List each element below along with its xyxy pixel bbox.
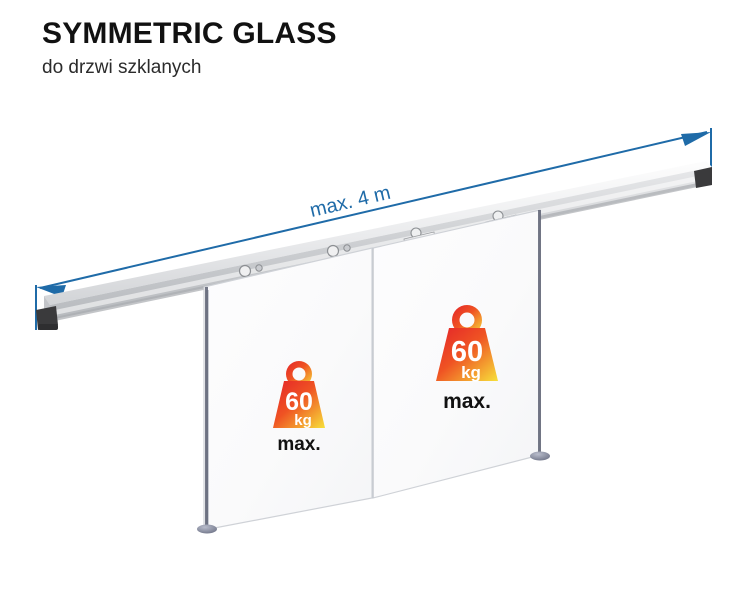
guide-post-left (205, 287, 208, 529)
weight-caption: max. (277, 434, 320, 455)
roller-wheel (344, 245, 350, 251)
roller-wheel (256, 265, 262, 271)
guide-post-right (538, 210, 541, 455)
diagram-canvas: SYMMETRIC GLASS do drzwi szklanych (0, 0, 747, 596)
product-illustration: 60 kg max. 60 kg max. (0, 0, 747, 596)
floor-guide-right (530, 452, 550, 461)
roller-wheel (240, 266, 251, 277)
floor-guide-left (197, 525, 217, 534)
weight-unit: kg (294, 412, 312, 429)
weight-caption: max. (443, 390, 491, 413)
arrow-right-icon (681, 132, 711, 146)
rail-foot-left (38, 324, 58, 330)
weight-unit: kg (461, 363, 481, 382)
roller-wheel (328, 246, 339, 257)
